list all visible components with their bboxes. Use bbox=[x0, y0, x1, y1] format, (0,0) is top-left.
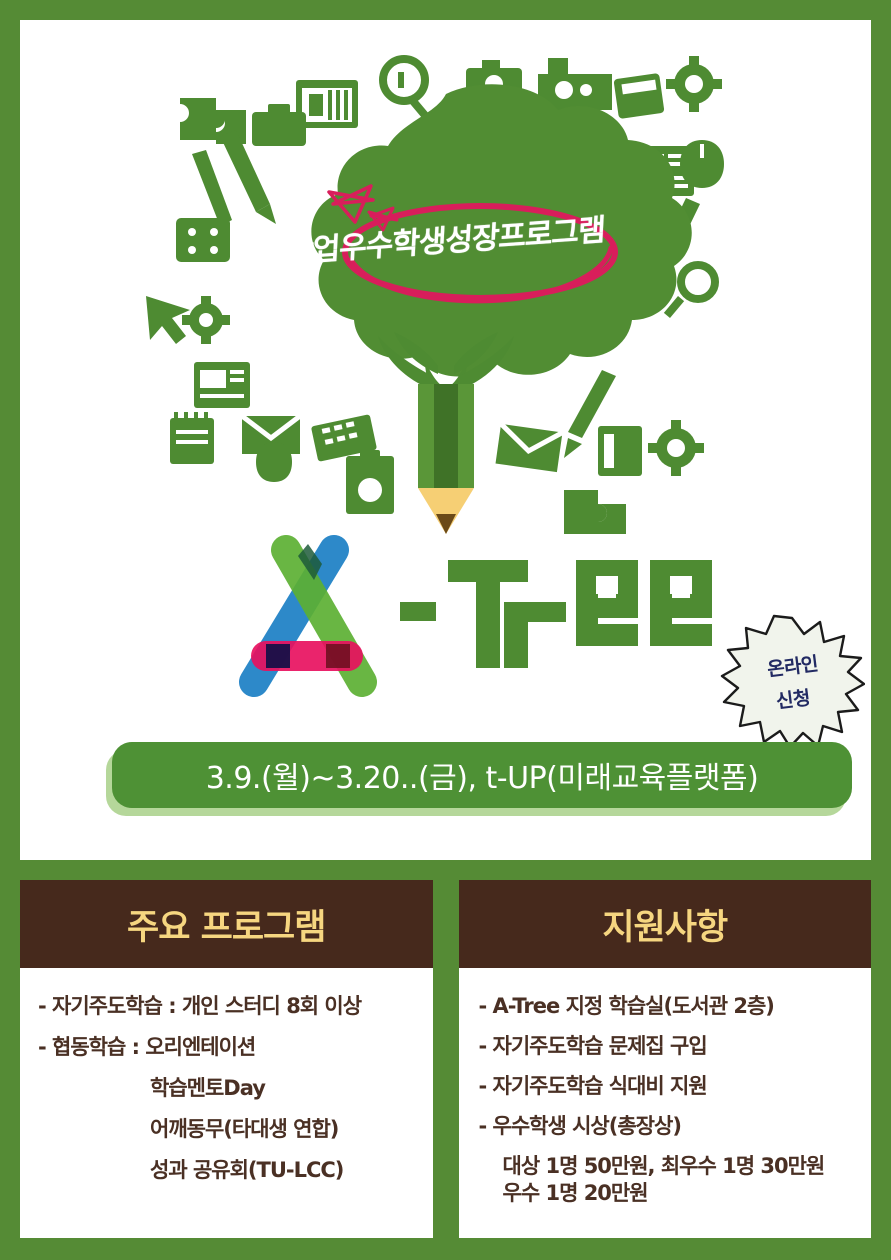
list-item: 학습멘토Day bbox=[150, 1078, 423, 1099]
badge-text: 온라인 신청 bbox=[720, 614, 865, 749]
list-item: - 자기주도학습 식대비 지원 bbox=[479, 1076, 862, 1097]
panel-support-body: - A-Tree 지정 학습실(도서관 2층) - 자기주도학습 문제집 구입 … bbox=[459, 968, 872, 1238]
panel-support-header: 지원사항 bbox=[459, 880, 872, 968]
list-item: - 자기주도학습 문제집 구입 bbox=[479, 1036, 862, 1057]
list-item: 성과 공유회(TU-LCC) bbox=[150, 1160, 423, 1181]
panel-support: 지원사항 - A-Tree 지정 학습실(도서관 2층) - 자기주도학습 문제… bbox=[459, 880, 872, 1238]
list-item: - 우수학생 시상(총장상) bbox=[479, 1116, 862, 1137]
panel-programs-title: 주요 프로그램 bbox=[127, 899, 325, 950]
star-scribble-icon bbox=[315, 170, 425, 250]
panel-programs-header: 주요 프로그램 bbox=[20, 880, 433, 968]
a-tree-logo-mark bbox=[230, 534, 380, 704]
list-item: 대상 1명 50만원, 최우수 1명 30만원 bbox=[503, 1156, 862, 1177]
tree-illustration: 학업우수학생성장프로그램 bbox=[20, 20, 871, 540]
panel-support-title: 지원사항 bbox=[602, 899, 727, 950]
poster-root: 학업우수학생성장프로그램 bbox=[0, 0, 891, 1260]
hero-card: 학업우수학생성장프로그램 bbox=[20, 20, 871, 860]
date-banner: 3.9.(월)~3.20..(금), t-UP(미래교육플랫폼) bbox=[112, 742, 852, 808]
date-banner-text: 3.9.(월)~3.20..(금), t-UP(미래교육플랫폼) bbox=[206, 753, 759, 797]
pencil-trunk bbox=[418, 384, 474, 534]
tree-graphic bbox=[146, 28, 746, 548]
list-item: 어깨동무(타대생 연합) bbox=[150, 1119, 423, 1140]
list-item: 우수 1명 20만원 bbox=[503, 1183, 862, 1204]
list-item: - 협동학습 : 오리엔테이션 bbox=[38, 1037, 423, 1058]
a-tree-wordmark bbox=[400, 558, 730, 673]
panel-programs-body: - 자기주도학습 : 개인 스터디 8회 이상 - 협동학습 : 오리엔테이션 … bbox=[20, 968, 433, 1238]
panel-programs: 주요 프로그램 - 자기주도학습 : 개인 스터디 8회 이상 - 협동학습 :… bbox=[20, 880, 433, 1238]
list-item: - A-Tree 지정 학습실(도서관 2층) bbox=[479, 996, 862, 1017]
badge-line-1: 온라인 bbox=[766, 648, 820, 681]
list-item: - 자기주도학습 : 개인 스터디 8회 이상 bbox=[38, 996, 423, 1017]
badge-line-2: 신청 bbox=[774, 683, 811, 714]
online-application-badge: 온라인 신청 bbox=[720, 614, 865, 749]
info-panels: 주요 프로그램 - 자기주도학습 : 개인 스터디 8회 이상 - 협동학습 :… bbox=[20, 880, 871, 1238]
